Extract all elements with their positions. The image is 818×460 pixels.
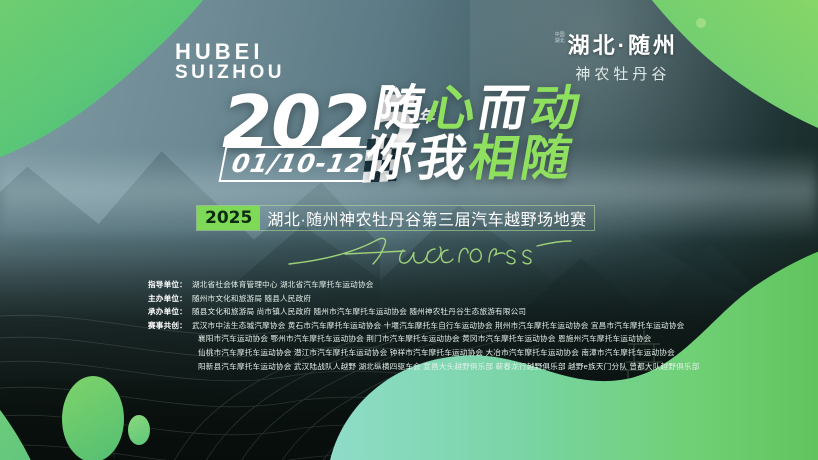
region-wordmark-line1: HUBEI — [175, 40, 285, 63]
destination-logo-title: 湖北·随州 — [568, 28, 678, 60]
credit-row: 承办单位： 随县文化和旅游局 尚市镇人民政府 随州市汽车摩托车运动协会 随州神农… — [148, 306, 700, 317]
headline-slogan-line1: 随心而动 — [370, 84, 587, 134]
credit-label: 承办单位： — [148, 306, 187, 317]
credit-label: 赛事共创： — [148, 320, 187, 331]
subtitle-text: 湖北·随州神农牡丹谷第三届汽车越野场地赛 — [260, 206, 593, 230]
headline-dates: 01/10-12 — [229, 149, 367, 178]
credit-value: 襄阳市汽车运动协会 鄂州市汽车摩托车运动协会 荆门市汽车摩托车运动协会 黄冈市汽… — [198, 333, 651, 344]
credit-label: 主办单位： — [148, 293, 187, 304]
decorative-dot-small — [128, 415, 150, 445]
credit-row: 阳新县汽车摩托车运动协会 武汉陆战队人越野 湖北纵横四驱车会 宣昌大头越野俱乐部… — [148, 361, 700, 372]
credit-row: 赛事共创： 武汉市中法生态城汽摩协会 黄石市汽车摩托车运动协会 十堰汽车摩托车自… — [148, 320, 700, 331]
headline-slogan-line2: 你我相随 — [361, 134, 578, 184]
credit-value: 随县文化和旅游局 尚市镇人民政府 随州市汽车摩托车运动协会 随州神农牡丹谷生态旅… — [192, 306, 526, 317]
slogan-char-4: 动 — [526, 80, 588, 137]
headline-group: 2025年 01/10-12 随心而动 你我相随 — [0, 86, 818, 196]
credit-label: 指导单位： — [148, 279, 187, 290]
subtitle-bar: 2025 湖北·随州神农牡丹谷第三届汽车越野场地赛 — [196, 205, 595, 231]
destination-logo: 中国湖北 湖北·随州 神农牡丹谷 — [568, 28, 678, 84]
credit-row: 指导单位： 湖北省社会体育管理中心 湖北省汽车摩托车运动协会 — [148, 279, 700, 290]
slogan-char-8: 随 — [517, 130, 579, 187]
credit-value: 仙桃市汽车摩托车运动协会 潜江市汽车摩托车运动协会 钟祥市汽车摩托车运动协会 大… — [198, 347, 675, 358]
destination-logo-micro-text: 中国湖北 — [554, 32, 566, 44]
credits-block: 指导单位： 湖北省社会体育管理中心 湖北省汽车摩托车运动协会 主办单位： 随州市… — [148, 279, 700, 374]
headline-date-box: 01/10-12 — [219, 146, 378, 182]
credit-value: 随州市文化和旅游局 随县人民政府 — [192, 293, 311, 304]
decorative-dot-tiny — [696, 18, 706, 28]
credit-value: 武汉市中法生态城汽摩协会 黄石市汽车摩托车运动协会 十堰汽车摩托车自行车运动协会… — [192, 320, 684, 331]
autocross-script-text — [285, 232, 585, 268]
credit-row: 襄阳市汽车运动协会 鄂州市汽车摩托车运动协会 荆门市汽车摩托车运动协会 黄冈市汽… — [148, 333, 700, 344]
region-wordmark: HUBEI SUIZHOU — [175, 40, 285, 83]
credit-value: 湖北省社会体育管理中心 湖北省汽车摩托车运动协会 — [192, 279, 374, 290]
decorative-dot-large — [62, 376, 124, 460]
subtitle-year-badge: 2025 — [197, 206, 260, 230]
credit-value: 阳新县汽车摩托车运动协会 武汉陆战队人越野 湖北纵横四驱车会 宣昌大头越野俱乐部… — [198, 361, 700, 372]
event-poster: HUBEI SUIZHOU 中国湖北 湖北·随州 神农牡丹谷 2025年 01/… — [0, 0, 818, 460]
headline-slogan: 随心而动 你我相随 — [361, 84, 587, 184]
credit-row: 主办单位： 随州市文化和旅游局 随县人民政府 — [148, 293, 700, 304]
credit-row: 仙桃市汽车摩托车运动协会 潜江市汽车摩托车运动协会 钟祥市汽车摩托车运动协会 大… — [148, 347, 700, 358]
